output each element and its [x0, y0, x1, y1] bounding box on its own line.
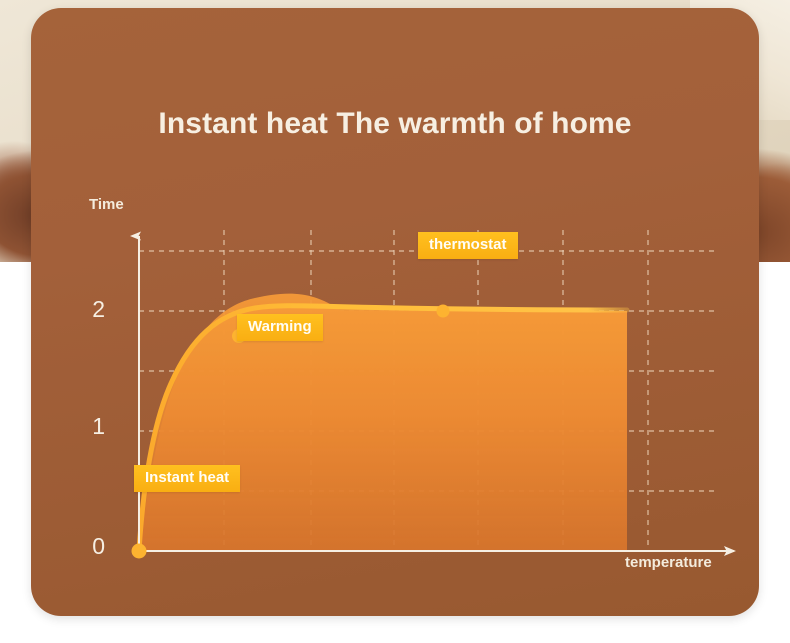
annotation-badge-thermostat: thermostat [418, 232, 518, 259]
heating-curve-chart [31, 8, 759, 616]
annotation-badge-instant-heat: Instant heat [134, 465, 240, 492]
y-axis-label: Time [89, 196, 124, 213]
y-tick-label-2: 2 [81, 296, 105, 323]
marker-origin [132, 544, 147, 559]
promo-card: Instant heat The warmth of home [31, 8, 759, 616]
annotation-badge-warming: Warming [237, 314, 323, 341]
y-tick-label-0: 0 [81, 533, 105, 560]
marker-thermostat [437, 305, 450, 318]
curve-area-fill [139, 294, 627, 551]
y-tick-label-1: 1 [81, 413, 105, 440]
x-axis-label: temperature [625, 554, 712, 571]
